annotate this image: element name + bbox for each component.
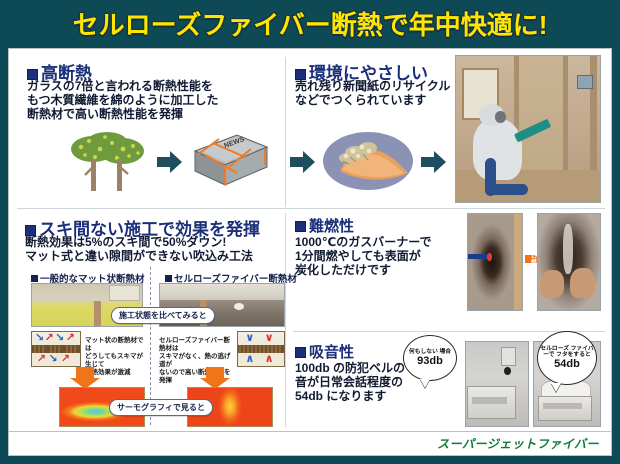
poster-title-bar: セルローズファイバー断熱で年中快適に!: [0, 0, 620, 46]
burner-tube: [467, 254, 490, 259]
upper-wall: [160, 284, 284, 300]
arrow-heat-out: ↗: [61, 354, 70, 365]
bubble-right-value: 54db: [554, 358, 580, 370]
arrow-heat-in: ↘: [55, 333, 64, 344]
hose: [485, 184, 528, 194]
content-panel: 高断熱 ガラスの7倍と言われる断熱性能を もつ木質繊維を綿のように加工した 断熱…: [8, 48, 612, 432]
worker-body: [473, 119, 522, 180]
body-high-insulation: ガラスの7倍と言われる断熱性能を もつ木質繊維を綿のように加工した 断熱材で高い…: [27, 79, 279, 121]
arrow-heat-out: ↗: [44, 333, 53, 344]
bubble-right-caption: セルローズ ファイバーで フタをすると: [538, 346, 596, 359]
arrow-blocked: ∧: [265, 354, 274, 365]
bullet-square-icon: [31, 275, 38, 282]
heading-sound-absorption-label: 吸音性: [309, 344, 354, 361]
diagram-hatch: [239, 345, 283, 352]
bubble-no-treatment: 何もしない 場合 93db: [403, 335, 457, 381]
photo-burn-test-after: [537, 213, 601, 311]
footer-bar: スーパージェットファイバー: [8, 432, 612, 456]
diagram-hatch: [66, 345, 78, 352]
arrow-heat-out: ↗: [66, 333, 75, 344]
charred-area: [563, 224, 573, 274]
photo-burn-test-before: [467, 213, 523, 311]
poster-root: セルローズファイバー断熱で年中快適に! 高断熱 ガラスの7倍と言われる断熱性能を…: [0, 0, 620, 464]
sound-meter: [501, 347, 516, 365]
frame-edge: [514, 214, 522, 310]
divider-horizontal: [17, 208, 605, 209]
arrow-blocked: ∧: [245, 354, 254, 365]
page-title: セルローズファイバー断熱で年中快適に!: [73, 5, 548, 42]
body-no-gap: 断熱効果は5%のスキ間で50%ダウン! マット式と違い隙間ができない吹込み工法: [25, 235, 289, 263]
tag-thermography: サーモグラフィで見ると: [109, 399, 213, 416]
bullet-square-icon: [295, 221, 306, 232]
box-label: [543, 403, 581, 409]
insulation-mat: [109, 285, 140, 301]
arrow-heat-out: ↗: [37, 354, 46, 365]
bullet-square-icon: [295, 347, 306, 358]
hand-fiber-illustration: [322, 131, 414, 191]
arrow-heat-in: ↘: [35, 333, 44, 344]
brand-name: スーパージェットファイバー: [437, 435, 599, 452]
arrow-blocked: ∨: [245, 333, 254, 344]
heading-flame-resistant: 難燃性: [295, 215, 354, 236]
diagram-hatch: [34, 345, 46, 352]
trees-illustration: [67, 129, 149, 193]
process-arrow-1-icon: [157, 149, 183, 175]
tag-compare-installation: 施工状態を比べてみると: [111, 307, 215, 324]
bubble-with-cellulose: セルローズ ファイバーで フタをすると 54db: [537, 331, 597, 385]
divider-vertical-top: [285, 57, 286, 207]
sound-meter-mic: [504, 367, 511, 375]
hand-shape: [540, 270, 564, 299]
arrow-blocked: ∨: [265, 333, 274, 344]
burner-flame: [487, 253, 491, 261]
heading-sound-absorption: 吸音性: [295, 341, 354, 362]
arrow-heat-in: ↘: [48, 354, 57, 365]
box-label: [472, 397, 507, 404]
floor-shape: [456, 170, 600, 202]
body-flame-resistant: 1000℃のガスバーナーで 1分間燃やしても表面が 炭化しただけです: [295, 235, 465, 277]
photo-insulation-worker: [455, 55, 601, 203]
diagram-mat-heatflow: ↘ ↗ ↘ ↗ ↗ ↘ ↗: [31, 331, 81, 367]
fiber-clump: [234, 303, 244, 310]
photo-sound-box-open: [465, 341, 529, 427]
bullet-square-icon: [165, 275, 172, 282]
process-arrow-3-icon: [421, 149, 447, 175]
hand-shape: [570, 268, 595, 299]
bubble-left-value: 93db: [417, 355, 443, 367]
process-arrow-2-icon: [290, 149, 316, 175]
diagram-cellulose-heatflow: ∨ ∨ ∧ ∧: [237, 331, 285, 367]
newspaper-bale-illustration: NEWS: [189, 131, 269, 193]
heading-flame-resistant-label: 難燃性: [309, 218, 354, 235]
wall-fixture: [577, 75, 593, 89]
diagram-hatch: [50, 345, 62, 352]
bubble-tail: [420, 379, 430, 388]
bubble-tail: [551, 383, 561, 392]
